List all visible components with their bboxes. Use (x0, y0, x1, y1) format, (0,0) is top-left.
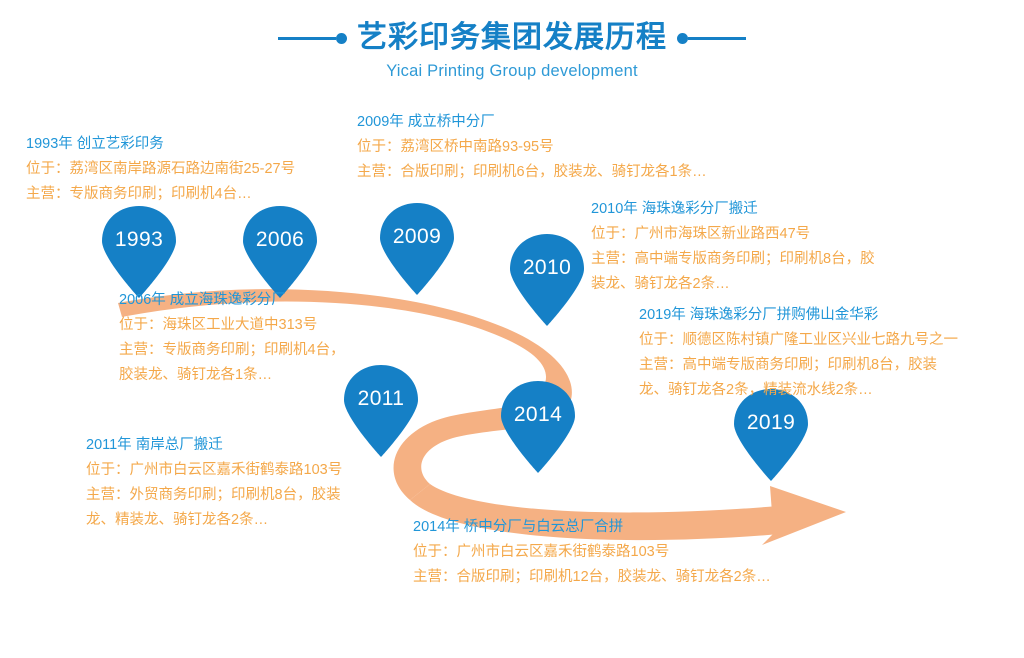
event-location: 位于：广州市海珠区新业路西47号 (591, 222, 875, 247)
event-heading: 2006年 成立海珠逸彩分厂 (119, 288, 345, 313)
page-title: 艺彩印务集团发展历程 (357, 19, 667, 57)
event-business: 主营：合版印刷；印刷机12台，胶装龙、骑钉龙各2条… (413, 565, 771, 590)
pin-label: 2014 (501, 403, 575, 427)
event-heading: 2011年 南岸总厂搬迁 (86, 433, 342, 458)
header: 艺彩印务集团发展历程 Yicai Printing Group developm… (0, 18, 1024, 82)
pin-2010[interactable]: 2010 (510, 234, 584, 326)
pin-2011[interactable]: 2011 (344, 365, 418, 457)
event-business-line-2: 龙、骑钉龙各2条，精装流水线2条… (639, 378, 958, 403)
event-business-line-1: 主营：高中端专版商务印刷；印刷机8台，胶装 (639, 353, 958, 378)
right-line-dot-decoration-icon (677, 33, 746, 44)
event-block-2014: 2014年 桥中分厂与白云总厂合拼 位于：广州市白云区嘉禾街鹤泰路103号 主营… (413, 515, 771, 590)
map-pin-icon (102, 206, 176, 298)
map-pin-icon (501, 381, 575, 473)
event-block-2019: 2019年 海珠逸彩分厂拼购佛山金华彩 位于：顺德区陈村镇广隆工业区兴业七路九号… (639, 303, 958, 403)
event-business-line-1: 主营：高中端专版商务印刷；印刷机8台，胶 (591, 247, 875, 272)
event-business: 主营：合版印刷；印刷机6台，胶装龙、骑钉龙各1条… (357, 160, 707, 185)
event-business-line-1: 主营：外贸商务印刷；印刷机8台，胶装 (86, 483, 342, 508)
page-subtitle: Yicai Printing Group development (0, 60, 1024, 82)
pin-label: 2019 (734, 411, 808, 435)
pin-label: 2006 (243, 228, 317, 252)
event-block-2010: 2010年 海珠逸彩分厂搬迁 位于：广州市海珠区新业路西47号 主营：高中端专版… (591, 197, 875, 297)
left-line-dot-decoration-icon (278, 33, 347, 44)
pin-2009[interactable]: 2009 (380, 203, 454, 295)
event-block-2009: 2009年 成立桥中分厂 位于：荔湾区桥中南路93-95号 主营：合版印刷；印刷… (357, 110, 707, 185)
event-location: 位于：广州市白云区嘉禾街鹤泰路103号 (413, 540, 771, 565)
event-business-line-1: 主营：专版商务印刷；印刷机4台， (119, 338, 345, 363)
ribbon-arrow-head (762, 486, 846, 545)
event-heading: 2010年 海珠逸彩分厂搬迁 (591, 197, 875, 222)
event-heading: 1993年 创立艺彩印务 (26, 132, 295, 157)
decoration-dot (677, 33, 688, 44)
pin-1993[interactable]: 1993 (102, 206, 176, 298)
event-heading: 2009年 成立桥中分厂 (357, 110, 707, 135)
event-location: 位于：海珠区工业大道中313号 (119, 313, 345, 338)
event-location: 位于：顺德区陈村镇广隆工业区兴业七路九号之一 (639, 328, 958, 353)
decoration-bar (278, 37, 336, 40)
event-business-line-2: 龙、精装龙、骑钉龙各2条… (86, 508, 342, 533)
map-pin-icon (380, 203, 454, 295)
pin-label: 2011 (344, 387, 418, 411)
title-row: 艺彩印务集团发展历程 (0, 18, 1024, 58)
event-business: 主营：专版商务印刷；印刷机4台… (26, 182, 295, 207)
event-location: 位于：荔湾区桥中南路93-95号 (357, 135, 707, 160)
pin-label: 2009 (380, 225, 454, 249)
event-heading: 2019年 海珠逸彩分厂拼购佛山金华彩 (639, 303, 958, 328)
event-heading: 2014年 桥中分厂与白云总厂合拼 (413, 515, 771, 540)
map-pin-icon (243, 206, 317, 298)
map-pin-icon (344, 365, 418, 457)
event-business-line-2: 胶装龙、骑钉龙各1条… (119, 363, 345, 388)
map-pin-icon (510, 234, 584, 326)
event-block-2006: 2006年 成立海珠逸彩分厂 位于：海珠区工业大道中313号 主营：专版商务印刷… (119, 288, 345, 388)
event-business-line-2: 装龙、骑钉龙各2条… (591, 272, 875, 297)
decoration-bar (688, 37, 746, 40)
pin-label: 1993 (102, 228, 176, 252)
event-block-1993: 1993年 创立艺彩印务 位于：荔湾区南岸路源石路边南街25-27号 主营：专版… (26, 132, 295, 207)
pin-label: 2010 (510, 256, 584, 280)
pin-2014[interactable]: 2014 (501, 381, 575, 473)
pin-2006[interactable]: 2006 (243, 206, 317, 298)
event-location: 位于：荔湾区南岸路源石路边南街25-27号 (26, 157, 295, 182)
event-location: 位于：广州市白云区嘉禾街鹤泰路103号 (86, 458, 342, 483)
event-block-2011: 2011年 南岸总厂搬迁 位于：广州市白云区嘉禾街鹤泰路103号 主营：外贸商务… (86, 433, 342, 533)
decoration-dot (336, 33, 347, 44)
